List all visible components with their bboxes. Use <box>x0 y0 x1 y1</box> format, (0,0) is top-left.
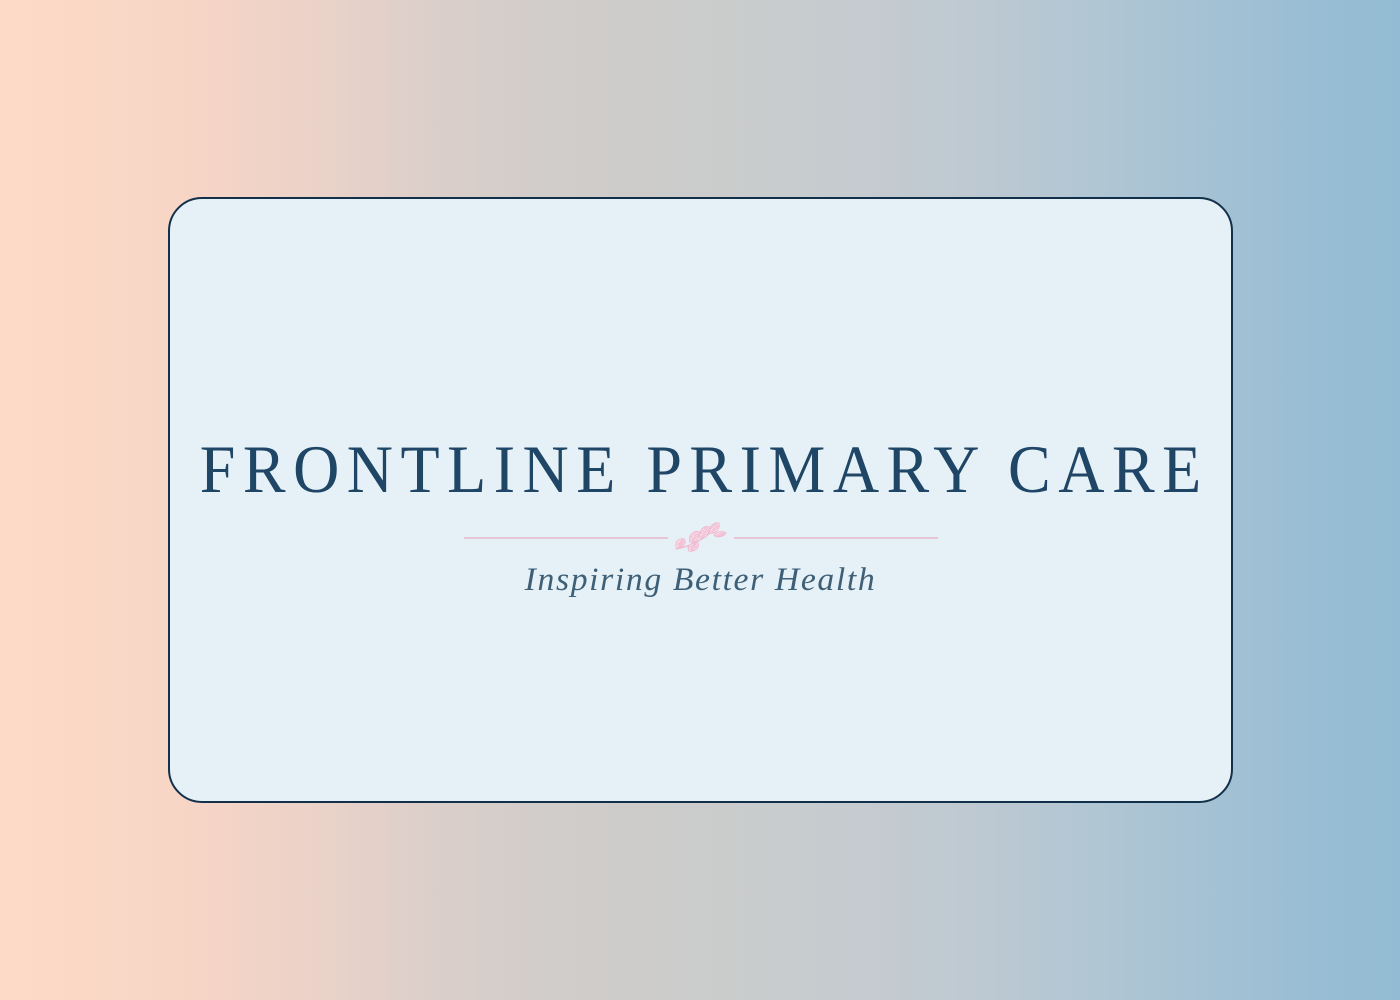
page-title: FRONTLINE PRIMARY CARE <box>170 436 1231 504</box>
logo-lockup: FRONTLINE PRIMARY CARE <box>170 436 1231 600</box>
divider-rule-left <box>464 537 668 539</box>
decorative-divider <box>464 521 938 555</box>
brand-card: FRONTLINE PRIMARY CARE <box>168 197 1233 803</box>
brand-tagline: Inspiring Better Health <box>159 562 1241 600</box>
divider-rule-right <box>734 537 938 539</box>
logo-canvas: FRONTLINE PRIMARY CARE <box>0 0 1400 1000</box>
leaf-sprig-icon <box>670 521 732 555</box>
